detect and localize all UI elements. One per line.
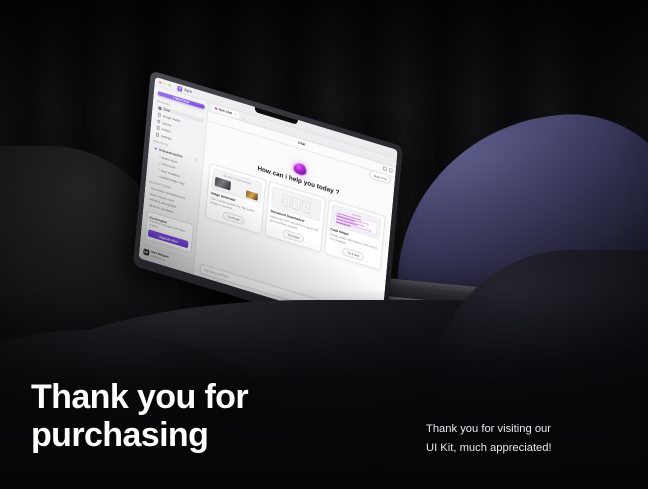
headline-line-2: purchasing	[31, 416, 361, 454]
headline-line-1: Thank you for	[31, 378, 361, 416]
subtext-line-1: Thank you for visiting our	[426, 420, 626, 439]
subtext-line-2: UI Kit, much appreciated!	[426, 439, 626, 458]
thank-you-note: Thank you for visiting our UI Kit, much …	[426, 420, 626, 458]
page-title: Thank you for purchasing	[31, 378, 361, 454]
